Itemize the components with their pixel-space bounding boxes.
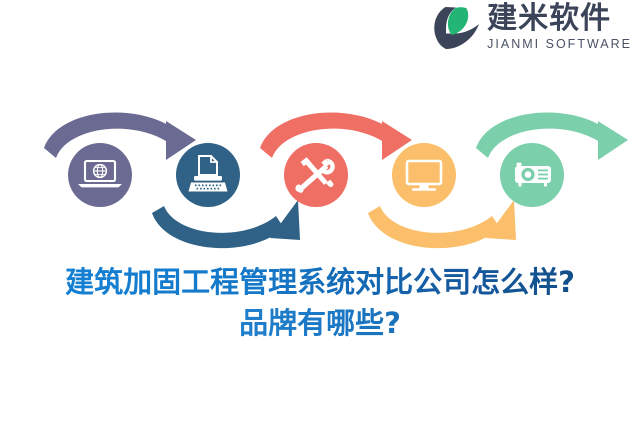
- step-4-circle: [392, 143, 456, 207]
- arrow-step-4-to-5: [368, 200, 516, 248]
- process-step-2[interactable]: [176, 143, 240, 207]
- brand-logo: 建米软件 JIANMI SOFTWARE: [432, 4, 632, 51]
- brand-text-block: 建米软件 JIANMI SOFTWARE: [487, 4, 632, 51]
- headline-block: 建筑加固工程管理系统对比公司怎么样? 品牌有哪些?: [0, 262, 640, 344]
- process-step-4[interactable]: [392, 143, 456, 207]
- process-step-1[interactable]: [68, 143, 132, 207]
- projector-icon: [515, 163, 551, 187]
- jianmi-leaf-logo-icon: [432, 4, 480, 50]
- process-flow-svg: [0, 88, 640, 270]
- process-step-3[interactable]: [284, 143, 348, 207]
- arrow-step-2-to-3: [152, 200, 300, 248]
- step-1-circle: [68, 143, 132, 207]
- process-flow-diagram: [0, 88, 640, 270]
- poster-canvas: 建米软件 JIANMI SOFTWARE: [0, 0, 640, 427]
- headline-line-1: 建筑加固工程管理系统对比公司怎么样?: [0, 262, 640, 303]
- brand-name-en: JIANMI SOFTWARE: [487, 38, 632, 51]
- brand-name-cn: 建米软件: [487, 4, 611, 34]
- process-step-5[interactable]: [500, 143, 564, 207]
- headline-line-2: 品牌有哪些?: [0, 303, 640, 344]
